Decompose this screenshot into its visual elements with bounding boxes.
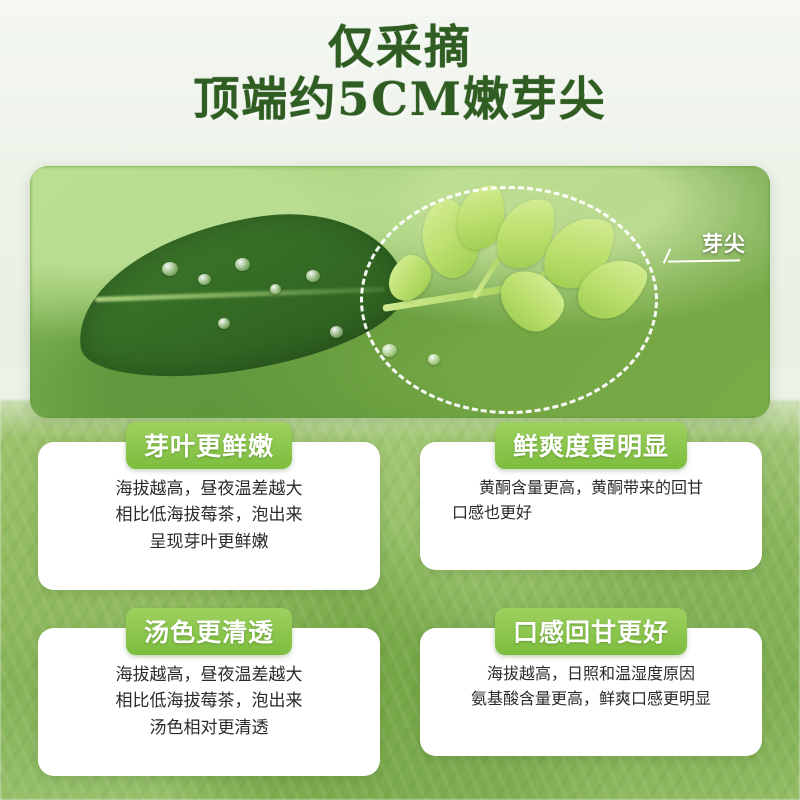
feature-card-4-body: 海拔越高，日照和温湿度原因 氨基酸含量更高，鲜爽口感更明显	[420, 662, 762, 712]
feature-card-3-body: 海拔越高，昼夜温差越大 相比低海拔莓茶，泡出来 汤色相对更清透	[38, 662, 380, 741]
feature-card-1-line-3: 呈现芽叶更鲜嫩	[52, 529, 366, 555]
feature-card-3-line-2: 相比低海拔莓茶，泡出来	[52, 688, 366, 714]
feature-card-3-title: 汤色更清透	[126, 608, 292, 655]
feature-card-1-title: 芽叶更鲜嫩	[126, 422, 292, 469]
feature-card-4-title-wrap: 口感回甘更好	[495, 608, 687, 655]
feature-card-4-line-2: 氨基酸含量更高，鲜爽口感更明显	[434, 687, 748, 712]
feature-card-1-body: 海拔越高，昼夜温差越大 相比低海拔莓茶，泡出来 呈现芽叶更鲜嫩	[38, 476, 380, 555]
feature-card-2-line-1: 黄酮含量更高，黄酮带来的回甘	[434, 476, 748, 501]
feature-card-4-title: 口感回甘更好	[495, 608, 687, 655]
hero-photo: 芽尖	[30, 166, 770, 418]
headline-line-1: 仅采摘	[0, 22, 800, 74]
water-droplet	[330, 326, 343, 338]
callout-label: 芽尖	[702, 228, 746, 258]
feature-card-3-line-3: 汤色相对更清透	[52, 715, 366, 741]
feature-card-3: 汤色更清透 海拔越高，昼夜温差越大 相比低海拔莓茶，泡出来 汤色相对更清透	[38, 628, 380, 776]
water-droplet	[162, 262, 178, 276]
page-title: 仅采摘 顶端约5CM嫩芽尖	[0, 22, 800, 125]
feature-card-4-line-1: 海拔越高，日照和温湿度原因	[434, 662, 748, 687]
promo-page: 仅采摘 顶端约5CM嫩芽尖 芽尖 芽叶更鲜嫩	[0, 0, 800, 800]
feature-card-1-line-1: 海拔越高，昼夜温差越大	[52, 476, 366, 502]
feature-card-2-title: 鲜爽度更明显	[495, 422, 687, 469]
focus-circle-icon	[360, 186, 658, 414]
water-droplet	[198, 274, 211, 285]
feature-card-2-body: 黄酮含量更高，黄酮带来的回甘 口感也更好	[420, 476, 762, 526]
feature-card-3-title-wrap: 汤色更清透	[126, 608, 292, 655]
feature-card-1-line-2: 相比低海拔莓茶，泡出来	[52, 502, 366, 528]
water-droplet	[235, 258, 250, 271]
feature-card-1: 芽叶更鲜嫩 海拔越高，昼夜温差越大 相比低海拔莓茶，泡出来 呈现芽叶更鲜嫩	[38, 442, 380, 590]
water-droplet	[218, 318, 230, 329]
feature-card-2-title-wrap: 鲜爽度更明显	[495, 422, 687, 469]
feature-card-1-title-wrap: 芽叶更鲜嫩	[126, 422, 292, 469]
headline-line-2: 顶端约5CM嫩芽尖	[0, 74, 800, 126]
water-droplet	[270, 284, 281, 294]
feature-card-2-line-2: 口感也更好	[434, 501, 748, 526]
water-droplet	[306, 270, 320, 282]
feature-card-4: 口感回甘更好 海拔越高，日照和温湿度原因 氨基酸含量更高，鲜爽口感更明显	[420, 628, 762, 756]
feature-card-2: 鲜爽度更明显 黄酮含量更高，黄酮带来的回甘 口感也更好	[420, 442, 762, 570]
feature-card-3-line-1: 海拔越高，昼夜温差越大	[52, 662, 366, 688]
